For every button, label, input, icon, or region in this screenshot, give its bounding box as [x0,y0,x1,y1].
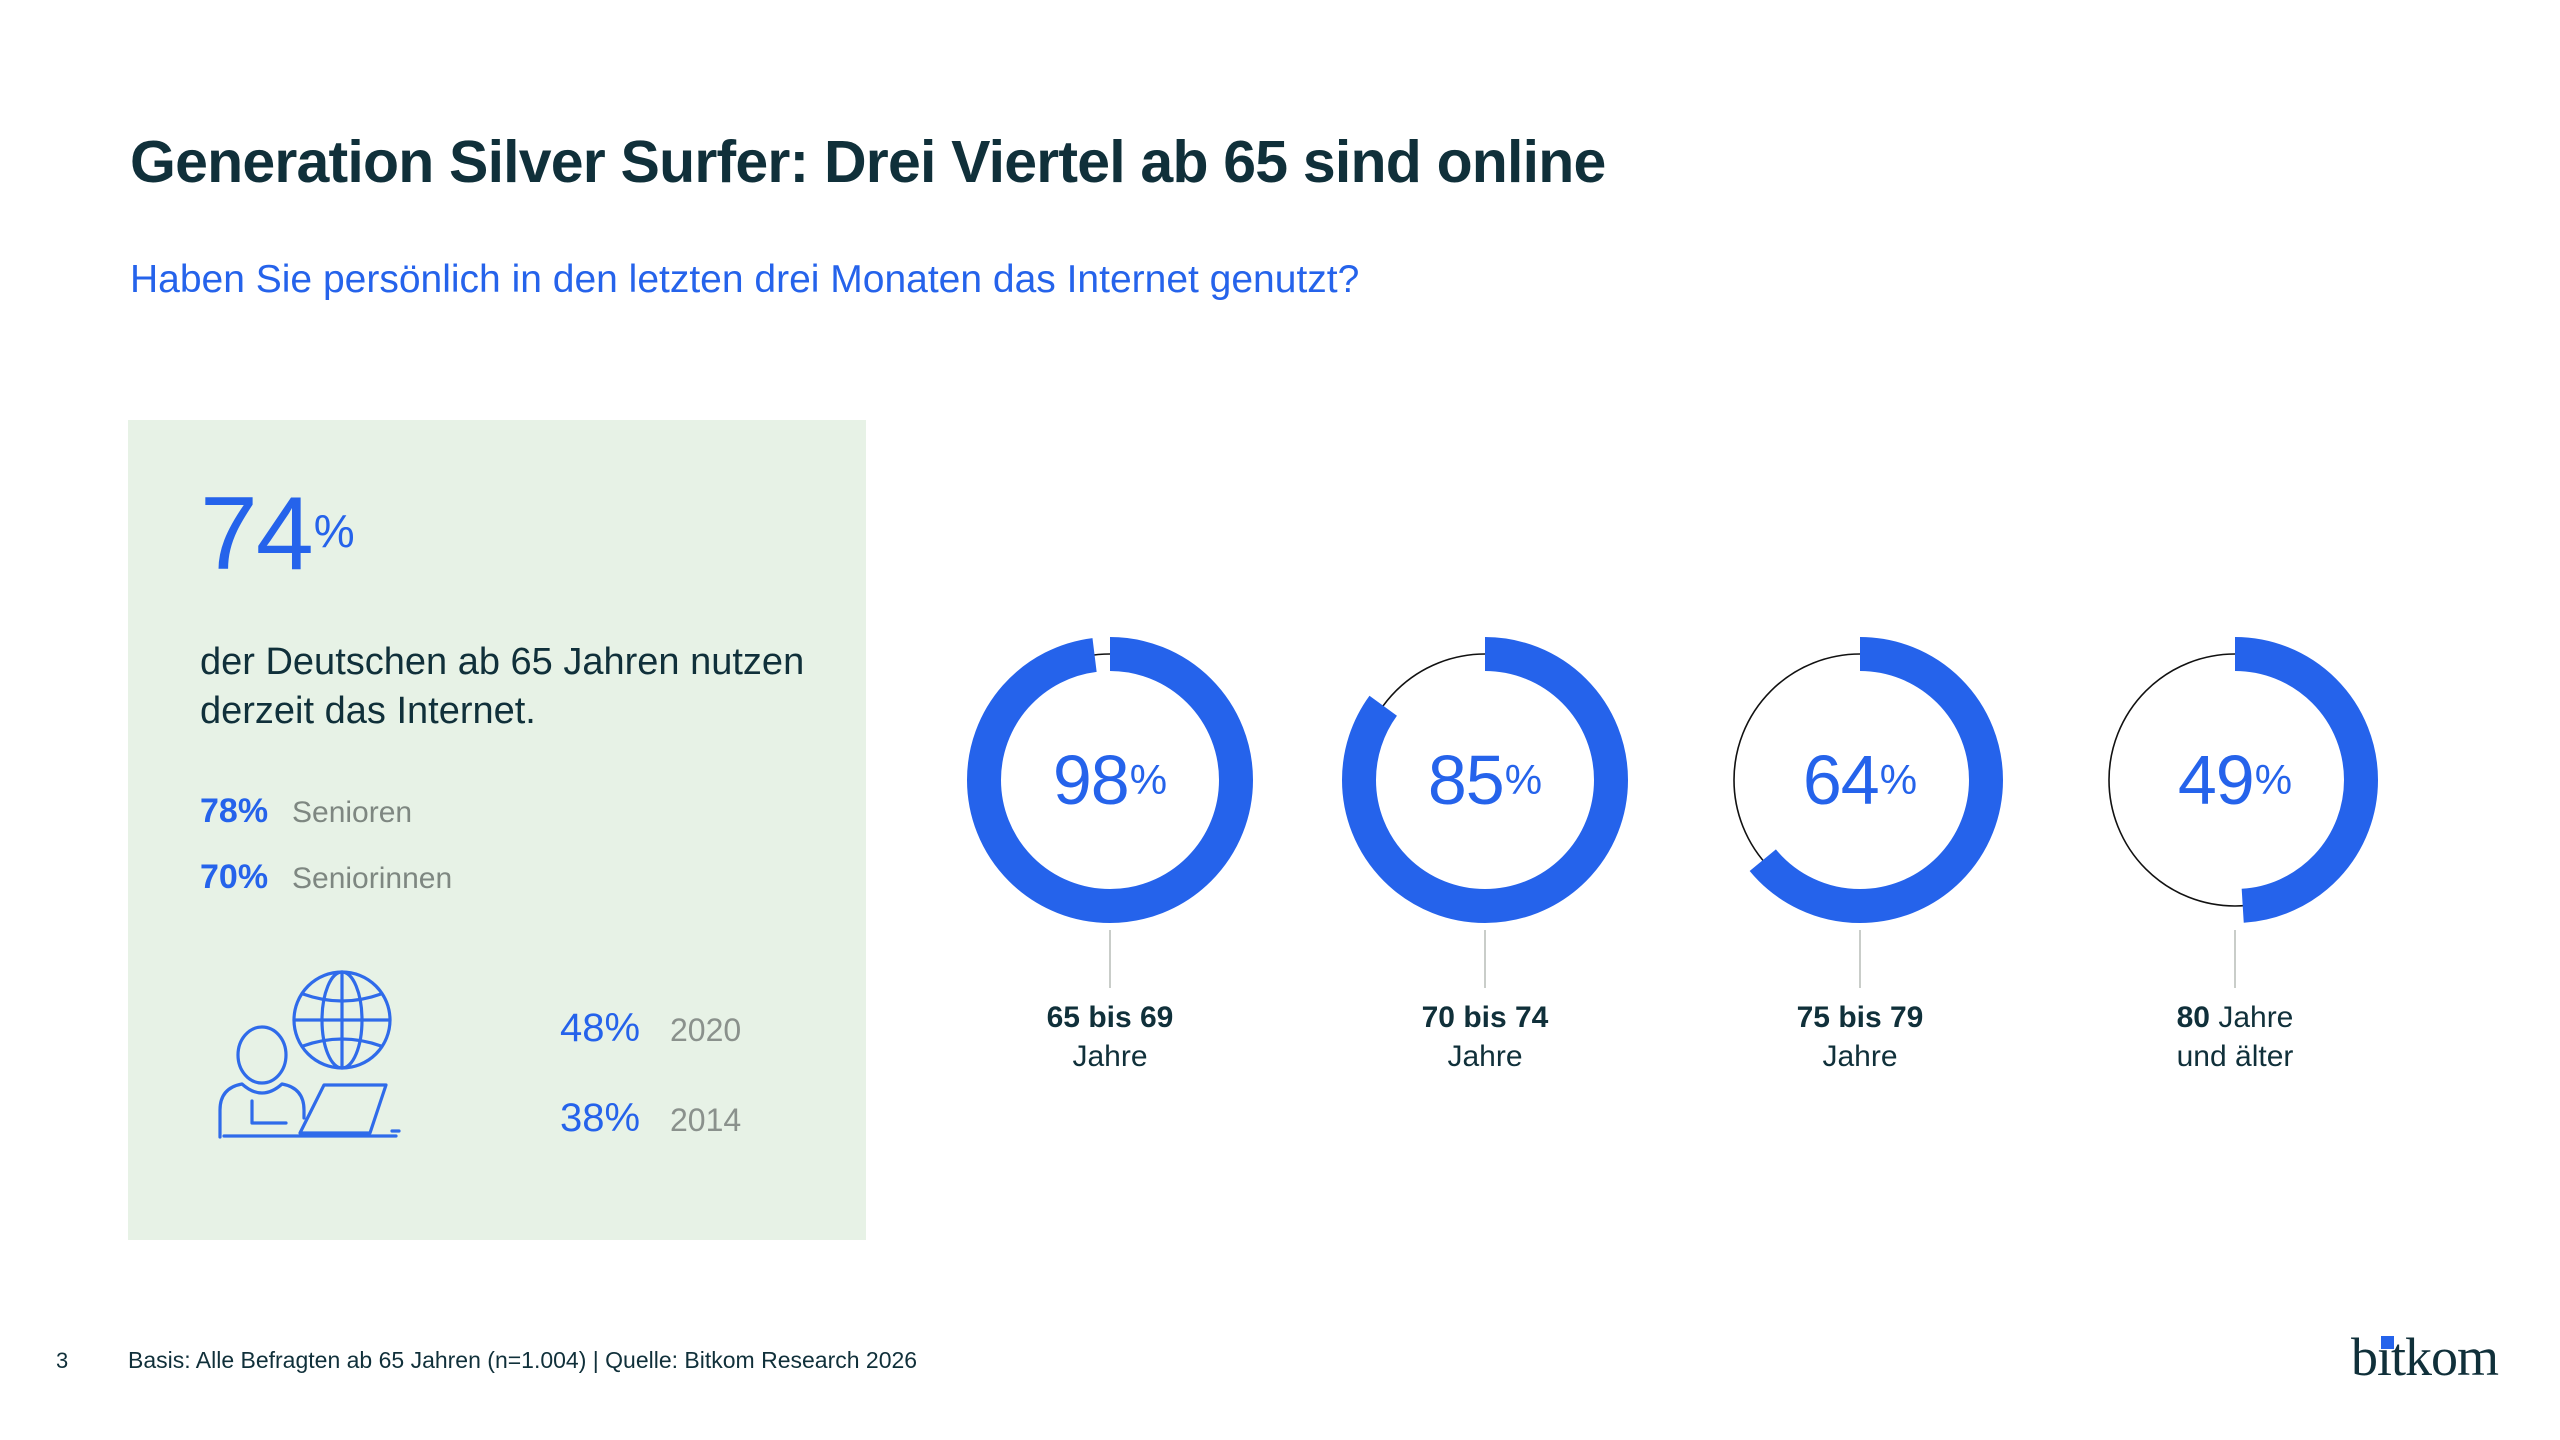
donut-chart-70-74: 85% 70 bis 74 Jahre [1335,630,1635,1100]
donut-label-line2: Jahre [1335,1037,1635,1076]
page-number: 3 [56,1348,68,1374]
history-value: 38% [560,1096,670,1141]
donut-value-label: 98% [960,630,1260,930]
history-row-2020: 48%2020 [560,1006,741,1051]
donut-value-label: 64% [1710,630,2010,930]
donut-value-percent: % [1880,756,1917,804]
donut-label-line2: Jahre [960,1037,1260,1076]
headline-stat-description: der Deutschen ab 65 Jahren nutzen derzei… [200,638,820,735]
donut-ring: 49% [2085,630,2385,930]
person-laptop-globe-icon [196,965,406,1145]
bitkom-logo-dot [2381,1336,2394,1349]
donut-value-percent: % [1505,756,1542,804]
history-label: 2014 [670,1102,741,1138]
donut-connector-line [1484,930,1486,988]
gender-split-label: Seniorinnen [292,862,452,895]
donut-chart-75-79: 64% 75 bis 79 Jahre [1710,630,2010,1100]
gender-split-label: Senioren [292,796,412,829]
donut-chart-group: 98% 65 bis 69 Jahre 85% 70 bis 74 Jahre [960,630,2450,1100]
donut-label-bold: 70 bis 74 [1422,1001,1549,1034]
donut-value-label: 85% [1335,630,1635,930]
donut-value-percent: % [1130,756,1167,804]
donut-label-bold: 65 bis 69 [1047,1001,1174,1034]
gender-split-value: 78% [200,792,292,831]
donut-label-rest: Jahre [2210,1001,2293,1034]
headline-stat-value: 74 [200,476,312,592]
page-subtitle: Haben Sie persönlich in den letzten drei… [130,258,1359,302]
source-note: Basis: Alle Befragten ab 65 Jahren (n=1.… [128,1347,917,1374]
donut-chart-65-69: 98% 65 bis 69 Jahre [960,630,1260,1100]
donut-connector-line [1859,930,1861,988]
donut-ring: 64% [1710,630,2010,930]
headline-stat-percent: % [314,505,355,557]
history-row-2014: 38%2014 [560,1096,741,1141]
donut-value-number: 64 [1803,740,1879,820]
donut-label-bold: 75 bis 79 [1797,1001,1924,1034]
gender-split-row-seniorinnen: 70%Seniorinnen [200,858,452,897]
donut-axis-label: 80 Jahre und älter [2085,998,2385,1076]
donut-chart-80-plus: 49% 80 Jahre und älter [2085,630,2385,1100]
donut-axis-label: 75 bis 79 Jahre [1710,998,2010,1076]
history-value: 48% [560,1006,670,1051]
donut-value-number: 98 [1053,740,1129,820]
donut-axis-label: 70 bis 74 Jahre [1335,998,1635,1076]
donut-value-label: 49% [2085,630,2385,930]
donut-connector-line [1109,930,1111,988]
donut-axis-label: 65 bis 69 Jahre [960,998,1260,1076]
gender-split-row-senioren: 78%Senioren [200,792,412,831]
donut-ring: 85% [1335,630,1635,930]
history-label: 2020 [670,1012,741,1048]
donut-value-percent: % [2255,756,2292,804]
donut-value-number: 49 [2178,740,2254,820]
page-title: Generation Silver Surfer: Drei Viertel a… [130,128,1606,196]
donut-value-number: 85 [1428,740,1504,820]
bitkom-logo-text: bitkom [2351,1327,2498,1387]
donut-label-line2: und älter [2085,1037,2385,1076]
gender-split-value: 70% [200,858,292,897]
donut-label-bold: 80 [2177,1001,2210,1034]
donut-connector-line [2234,930,2236,988]
donut-label-line2: Jahre [1710,1037,2010,1076]
bitkom-logo: bitkom [2351,1330,2498,1384]
donut-ring: 98% [960,630,1260,930]
headline-stat: 74% [200,482,355,586]
